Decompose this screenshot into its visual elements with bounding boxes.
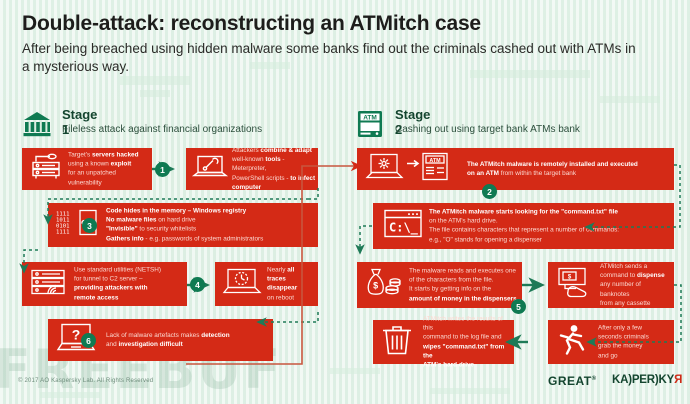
stage-1-description: Fileless attack against financial organi… bbox=[62, 124, 262, 135]
page-title: Double-attack: reconstructing an ATMitch… bbox=[22, 12, 481, 36]
laptop-to-atm-icon: ATM bbox=[365, 151, 457, 188]
step-11-card[interactable]: After only a fewseconds criminalsgrab th… bbox=[548, 320, 674, 364]
step-12-card[interactable]: ATMitch writes the results of thiscomman… bbox=[373, 320, 514, 364]
console-prompt-icon: C:\_ bbox=[381, 207, 425, 246]
step-1-card[interactable]: Target's servers hackedusing a known exp… bbox=[22, 148, 152, 190]
step-6-text: Lack of malware artefacts makes detectio… bbox=[106, 331, 266, 349]
step-1-badge: 1 bbox=[155, 162, 170, 177]
trash-bin-icon bbox=[379, 323, 419, 362]
step-5-text: Nearly alltracesdisappearon reboot bbox=[267, 266, 315, 303]
step-3-text: Code hides in the memory – Windows regis… bbox=[106, 207, 314, 244]
svg-text:$: $ bbox=[373, 281, 378, 291]
step-6-card[interactable]: ? Lack of malware artefacts makes detect… bbox=[48, 319, 273, 361]
step-5-badge: 5 bbox=[511, 299, 526, 314]
step-5-card[interactable]: Nearly alltracesdisappearon reboot 5 bbox=[215, 262, 318, 306]
step-4-text: Use standard utilities (NETSH)for tunnel… bbox=[74, 266, 182, 303]
step-7-text: The ATMitch malware is remotely installe… bbox=[467, 160, 667, 178]
copyright-text: © 2017 AO Kaspersky Lab. All Rights Rese… bbox=[18, 378, 153, 384]
step-7-card[interactable]: ATM The ATMitch malware is remotely inst… bbox=[357, 148, 674, 190]
step-6-badge: 6 bbox=[81, 333, 96, 348]
atm-icon: ATM bbox=[355, 109, 385, 139]
step-9-text: The malware reads and executes oneof the… bbox=[409, 267, 521, 304]
step-11-text: After only a fewseconds criminalsgrab th… bbox=[598, 324, 670, 361]
step-12-text: ATMitch writes the results of thiscomman… bbox=[423, 314, 511, 369]
page-subtitle: After being breached using hidden malwar… bbox=[22, 40, 642, 76]
svg-text:ATM: ATM bbox=[429, 158, 441, 164]
great-logo-text: GREAT bbox=[548, 374, 592, 388]
svg-text:ATM: ATM bbox=[363, 115, 377, 122]
kaspersky-logo: KA)PER)KYЯ bbox=[612, 374, 682, 386]
running-man-icon bbox=[554, 323, 596, 362]
kaspersky-logo-mark: Я bbox=[674, 374, 682, 386]
kaspersky-logo-text: KA)PER)KY bbox=[612, 374, 674, 386]
step-2-badge: 2 bbox=[482, 184, 497, 199]
step-2-text: Attackers combine & adaptwell-known tool… bbox=[232, 146, 318, 192]
atm-dispense-hand-icon: $ bbox=[554, 266, 596, 305]
step-9-card[interactable]: $ The malware reads and executes oneof t… bbox=[357, 262, 522, 308]
great-logo: GREAT® bbox=[548, 374, 597, 388]
step-1-text: Target's servers hackedusing a known exp… bbox=[68, 151, 150, 188]
svg-text:1111: 1111 bbox=[56, 230, 69, 236]
svg-text:C:\_: C:\_ bbox=[389, 221, 419, 236]
step-10-card[interactable]: $ ATMitch sends acommand to dispenseany … bbox=[548, 262, 674, 308]
step-10-text: ATMitch sends acommand to dispenseany nu… bbox=[600, 262, 672, 308]
server-hacked-icon bbox=[28, 151, 64, 188]
laptop-tools-icon bbox=[191, 152, 229, 187]
server-tunnel-icon bbox=[28, 266, 72, 303]
step-4-badge: 4 bbox=[190, 277, 205, 292]
money-bag-icon: $ bbox=[363, 266, 407, 305]
bank-icon bbox=[22, 109, 52, 139]
svg-text:?: ? bbox=[72, 327, 81, 343]
step-3-badge: 3 bbox=[82, 218, 97, 233]
step-3-card[interactable]: 1111 1011 0101 1111 Code hides in the me… bbox=[48, 203, 318, 247]
stage-2-description: Cashing out using target bank ATMs bank bbox=[395, 124, 580, 135]
laptop-reboot-icon bbox=[221, 266, 263, 303]
infographic-canvas: FREEBUF Double-attack: reconstructing an… bbox=[0, 0, 690, 404]
step-4-card[interactable]: Use standard utilities (NETSH)for tunnel… bbox=[22, 262, 187, 306]
step-8-text: The ATMitch malware starts looking for t… bbox=[429, 208, 669, 245]
step-8-card[interactable]: C:\_ The ATMitch malware starts looking … bbox=[373, 203, 674, 249]
step-2-card[interactable]: Attackers combine & adaptwell-known tool… bbox=[186, 148, 318, 190]
